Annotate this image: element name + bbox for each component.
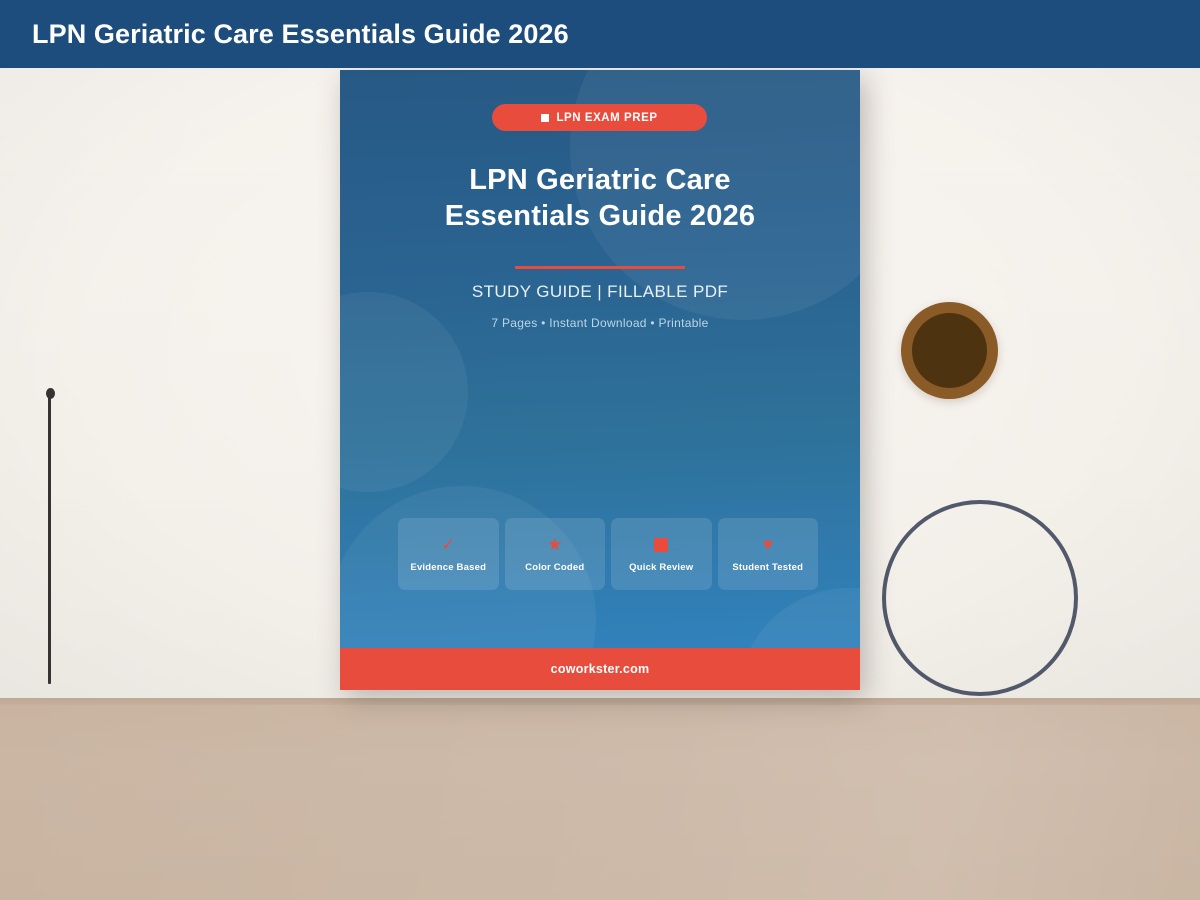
heart-icon: ♥ bbox=[763, 536, 773, 554]
coffee-cup-prop bbox=[901, 302, 998, 399]
feature-card-student-tested[interactable]: ♥ Student Tested bbox=[718, 518, 819, 590]
pen-prop bbox=[46, 388, 55, 684]
poster-title-line-2: Essentials Guide 2026 bbox=[340, 198, 860, 234]
title-divider bbox=[515, 266, 685, 269]
check-icon: ✓ bbox=[441, 536, 455, 554]
badge-label: LPN EXAM PREP bbox=[556, 112, 657, 124]
page-title: LPN Geriatric Care Essentials Guide 2026 bbox=[32, 0, 569, 68]
feature-card-row: ✓ Evidence Based ★ Color Coded Quick Rev… bbox=[398, 518, 818, 590]
exam-prep-badge: LPN EXAM PREP bbox=[492, 104, 707, 131]
stethoscope-ring-prop bbox=[882, 500, 1078, 696]
feature-label: Evidence Based bbox=[410, 562, 486, 573]
header-bar: LPN Geriatric Care Essentials Guide 2026 bbox=[0, 0, 1200, 68]
poster-title: LPN Geriatric Care Essentials Guide 2026 bbox=[340, 162, 860, 234]
square-icon bbox=[541, 114, 549, 122]
feature-label: Quick Review bbox=[629, 562, 693, 573]
poster-content: LPN EXAM PREP LPN Geriatric Care Essenti… bbox=[340, 70, 860, 690]
desk-surface bbox=[0, 698, 1200, 900]
coffee-liquid bbox=[912, 313, 987, 388]
poster-meta: 7 Pages • Instant Download • Printable bbox=[340, 316, 860, 330]
footer-website-label: coworkster.com bbox=[551, 662, 650, 676]
pen-shaft bbox=[48, 396, 51, 684]
feature-card-quick-review[interactable]: Quick Review bbox=[611, 518, 712, 590]
desk-edge bbox=[0, 698, 1200, 705]
square-icon bbox=[654, 536, 668, 554]
feature-card-evidence-based[interactable]: ✓ Evidence Based bbox=[398, 518, 499, 590]
feature-card-color-coded[interactable]: ★ Color Coded bbox=[505, 518, 606, 590]
feature-label: Color Coded bbox=[525, 562, 584, 573]
poster-title-line-1: LPN Geriatric Care bbox=[340, 162, 860, 198]
feature-label: Student Tested bbox=[732, 562, 803, 573]
poster-subtitle: STUDY GUIDE | FILLABLE PDF bbox=[340, 282, 860, 302]
poster-footer: coworkster.com bbox=[340, 648, 860, 690]
poster-card[interactable]: LPN EXAM PREP LPN Geriatric Care Essenti… bbox=[340, 70, 860, 690]
star-icon: ★ bbox=[547, 536, 562, 554]
desk-scene: LPN EXAM PREP LPN Geriatric Care Essenti… bbox=[0, 0, 1200, 900]
